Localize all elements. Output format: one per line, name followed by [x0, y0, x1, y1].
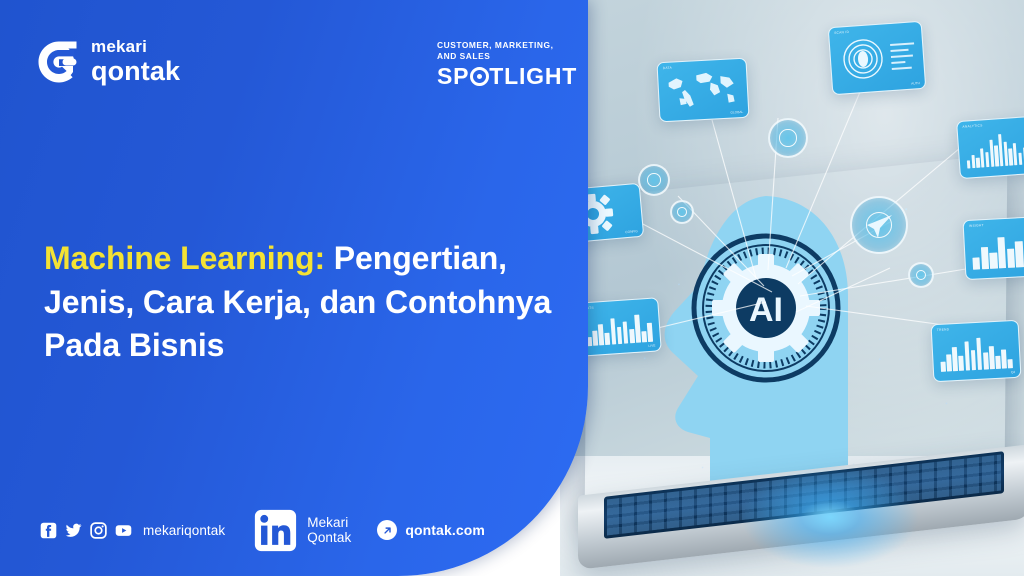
twitter-icon[interactable] [65, 522, 82, 539]
network-node-icon [768, 118, 808, 158]
ai-artwork-photo: AI DATA [560, 0, 1024, 576]
spotlight-kicker: CUSTOMER, MARKETING, AND SALES [437, 40, 577, 62]
spotlight-kicker-line-1: CUSTOMER, MARKETING, [437, 40, 577, 51]
brand-line-2: qontak [91, 58, 180, 85]
network-node-icon [638, 164, 670, 196]
blue-content-panel: mekari qontak CUSTOMER, MARKETING, AND S… [0, 0, 588, 576]
brand-logo-text: mekari qontak [91, 38, 180, 85]
target-o-icon [470, 67, 489, 86]
linkedin-group[interactable]: Mekari Qontak [253, 508, 351, 553]
card-caption: TREND [937, 327, 950, 332]
linkedin-label: Mekari Qontak [307, 515, 351, 545]
brand-logo[interactable]: mekari qontak [38, 38, 180, 85]
bar-chart-card-right-mid: INSIGHT KPI [962, 216, 1024, 280]
network-node-icon [670, 200, 694, 224]
arrow-up-right-icon[interactable] [377, 520, 397, 540]
spotlight-kicker-line-2: AND SALES [437, 51, 577, 62]
spotlight-word-part-1: SP [437, 65, 469, 88]
card-caption: ANALYTICS [962, 123, 982, 128]
paper-plane-node-icon [850, 196, 908, 254]
world-map-card: DATA GLOBAL [656, 58, 749, 123]
social-handle: mekariqontak [143, 523, 225, 538]
youtube-icon[interactable] [115, 522, 132, 539]
card-caption-secondary: LIVE [648, 344, 655, 348]
bar-chart-icon [971, 231, 1024, 269]
facebook-icon[interactable] [40, 522, 57, 539]
bar-chart-card-right-low: TREND Q4 [931, 320, 1022, 383]
spotlight-wordmark: SP TLIGHT [437, 65, 577, 88]
card-caption: INSIGHT [969, 223, 984, 228]
brand-line-1: mekari [91, 38, 180, 55]
mekari-qontak-logo-mark [38, 41, 80, 83]
linkedin-icon[interactable] [253, 508, 298, 553]
website-group[interactable]: qontak.com [377, 520, 485, 540]
bar-chart-card-left: STATS LIVE [576, 297, 662, 357]
footer-social-bar: mekariqontak Mekari Qontak qontak.com [40, 508, 485, 553]
bar-chart-card-right-top: ANALYTICS REPORT [956, 115, 1024, 179]
network-node-icon [908, 262, 934, 288]
bar-chart-icon [585, 311, 653, 347]
social-icon-group [40, 522, 132, 539]
page-title: Machine Learning: Pengertian, Jenis, Car… [44, 237, 559, 367]
card-caption-secondary: Q4 [1011, 370, 1015, 374]
website-label: qontak.com [405, 522, 485, 538]
card-caption-secondary: AUTH [911, 81, 920, 86]
bar-chart-icon [965, 130, 1024, 169]
fingerprint-scan-card: SCAN ID AUTH [828, 21, 927, 95]
page-title-highlight: Machine Learning: [44, 240, 325, 276]
social-media-banner: AI DATA [0, 0, 1024, 576]
human-head-silhouette-icon: AI [648, 192, 858, 492]
bar-chart-icon [939, 335, 1013, 372]
spotlight-word-part-2: TLIGHT [489, 65, 577, 88]
spotlight-lockup: CUSTOMER, MARKETING, AND SALES SP TLIGHT [437, 40, 577, 88]
ai-label: AI [749, 291, 783, 329]
instagram-icon[interactable] [90, 522, 107, 539]
card-caption-secondary: GLOBAL [730, 110, 743, 115]
